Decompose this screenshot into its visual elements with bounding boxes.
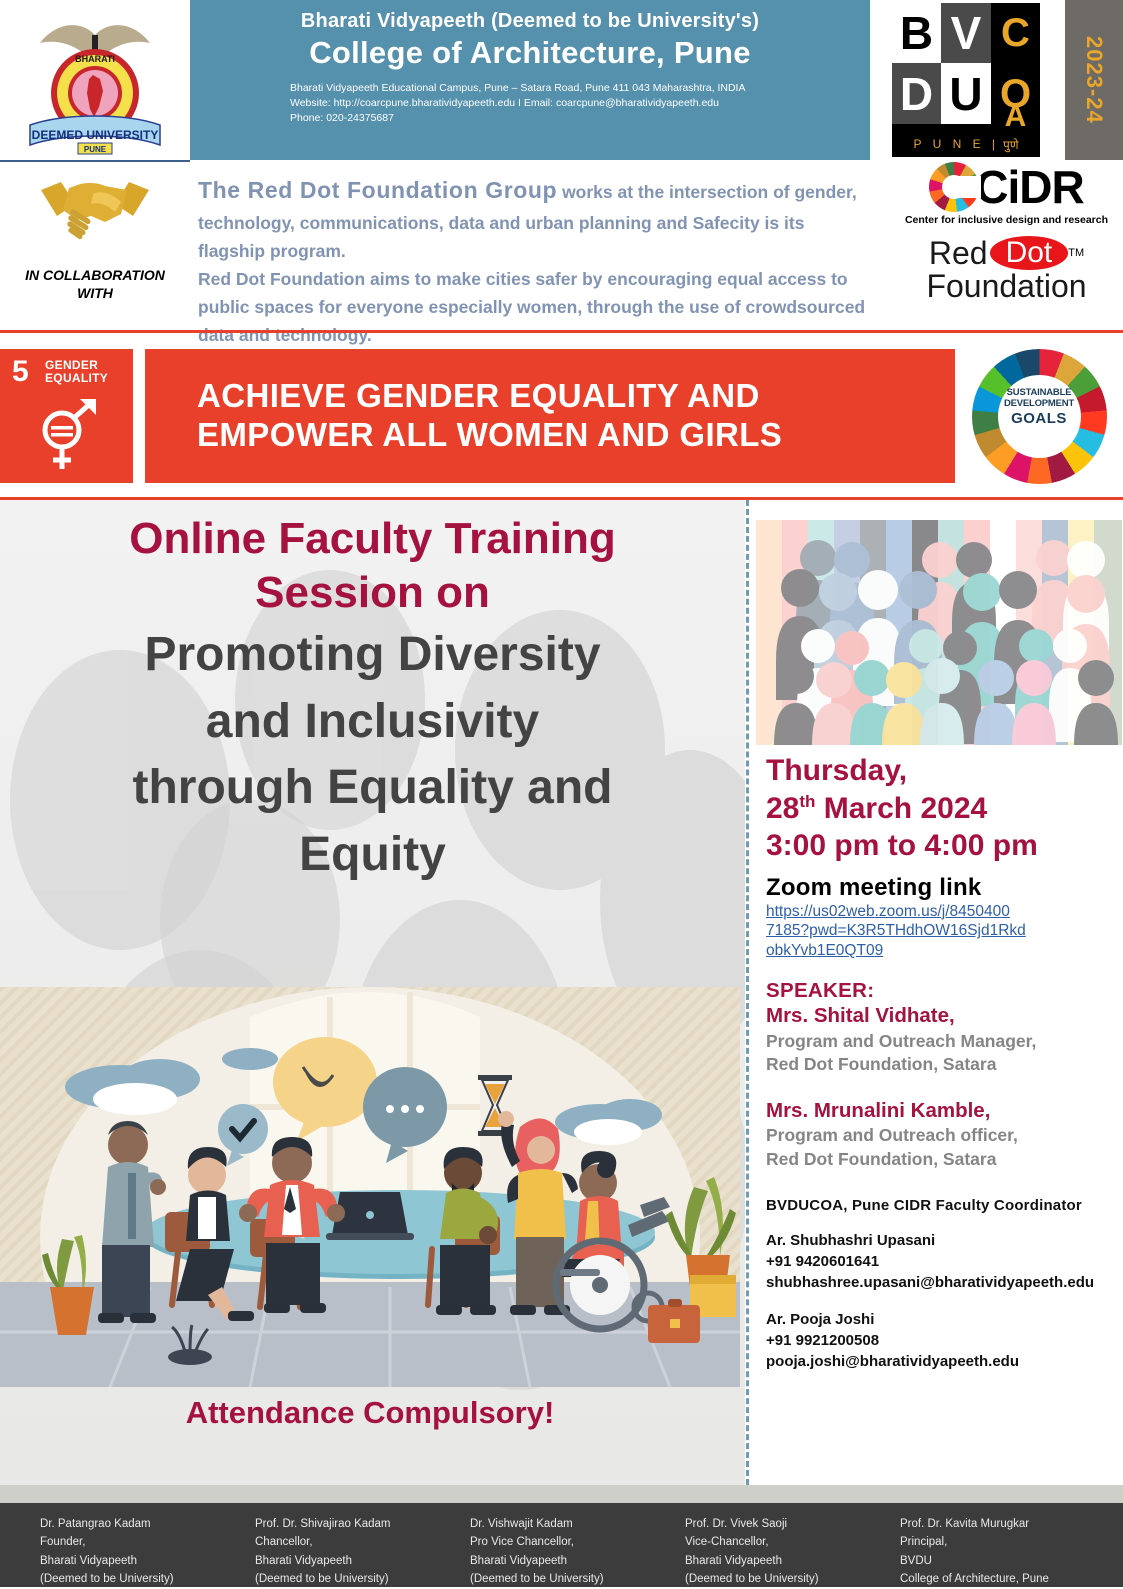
divider-top (0, 330, 1123, 333)
coordinator-2-phone[interactable]: +91 9921200508 (766, 1330, 1118, 1351)
event-date-suffix: th (799, 792, 815, 811)
zoom-url-line2[interactable]: 7185?pwd=K3R5THdhOW16Sjd1Rkd (766, 922, 1026, 939)
event-date-month-year: March 2024 (815, 792, 987, 825)
coordinator-2: Ar. Pooja Joshi +91 9921200508 pooja.jos… (766, 1309, 1118, 1372)
trademark-symbol: TM (1068, 248, 1084, 259)
speaker-1-role-line1: Program and Outreach Manager, (766, 1030, 1118, 1053)
red-dot-paragraph-2: Red Dot Foundation aims to make cities s… (198, 265, 868, 349)
attendance-notice: Attendance Compulsory! (0, 1395, 740, 1431)
footer-person-5-name: Prof. Dr. Kavita Murugkar (900, 1515, 1097, 1533)
bvdu-letter-v: V (941, 3, 991, 63)
speaker-2: Mrs. Mrunalini Kamble, Program and Outre… (766, 1098, 1118, 1171)
coordinator-1: Ar. Shubhashri Upasani +91 9420601641 sh… (766, 1230, 1118, 1293)
speaker-1-name: Mrs. Shital Vidhate, (766, 1003, 1118, 1030)
page-header: BHARATI ★ ★ DEEMED UNIVERSITY PUNE Bhara… (0, 0, 1123, 160)
bvdu-pune-label: P U N E | पुणे (892, 133, 1040, 155)
bvdu-coa-logo-cell: B V C D U O A P U N E | पुणे 2023-24 (870, 0, 1123, 160)
reddot-word-red: Red (929, 237, 988, 269)
handshake-icon (35, 170, 155, 245)
cidr-wordmark: CiDR (975, 164, 1083, 210)
coordinator-2-name: Ar. Pooja Joshi (766, 1309, 1118, 1330)
poster-root: BHARATI ★ ★ DEEMED UNIVERSITY PUNE Bhara… (0, 0, 1123, 1587)
sdg-wheel-line3: GOALS (998, 410, 1081, 429)
academic-year-strip: 2023-24 (1065, 0, 1123, 160)
campus-address: Bharati Vidyapeeth Educational Campus, P… (290, 81, 856, 96)
footer-person-1-org1: Bharati Vidyapeeth (40, 1552, 237, 1570)
sdg-goal-label-line2: EQUALITY (45, 372, 108, 385)
sdg-goal-number: 5 (12, 357, 29, 387)
phone-number: Phone: 020-24375687 (290, 111, 856, 126)
event-date-number: 28 (766, 792, 799, 825)
header-contact-block: Bharati Vidyapeeth Educational Campus, P… (204, 81, 856, 127)
footer-person-2-org1: Bharati Vidyapeeth (255, 1552, 452, 1570)
zoom-url-line3[interactable]: obkYvb1E0QT09 (766, 942, 883, 959)
footer-person-4-org1: Bharati Vidyapeeth (685, 1552, 882, 1570)
sdg-goal-label: GENDER EQUALITY (45, 359, 108, 385)
coordinator-1-email[interactable]: shubhashree.upasani@bharatividyapeeth.ed… (766, 1272, 1118, 1293)
footer-person-1-role: Founder, (40, 1533, 237, 1551)
cidr-logo: CiDR Center for inclusive design and res… (905, 162, 1108, 226)
footer-person-2-role: Chancellor, (255, 1533, 452, 1551)
sdg-goal-5-tile: 5 GENDER EQUALITY (0, 349, 133, 483)
footer-person-3: Dr. Vishwajit Kadam Pro Vice Chancellor,… (470, 1515, 667, 1587)
footer-person-5-org2: College of Architecture, Pune (900, 1570, 1097, 1588)
footer-person-4-org2: (Deemed to be University) (685, 1570, 882, 1588)
sdg-statement-line2: EMPOWER ALL WOMEN AND GIRLS (197, 416, 955, 455)
partner-logos: CiDR Center for inclusive design and res… (890, 160, 1123, 328)
collaboration-label: IN COLLABORATION WITH (25, 267, 165, 302)
event-details: Thursday, 28th March 2024 3:00 pm to 4:0… (766, 752, 1118, 1372)
bvdu-pune-text: P U N E | (913, 137, 999, 151)
footer-person-3-role: Pro Vice Chancellor, (470, 1533, 667, 1551)
college-name: College of Architecture, Pune (204, 35, 856, 71)
footer-person-4: Prof. Dr. Vivek Saoji Vice-Chancellor, B… (685, 1515, 882, 1587)
speaker-2-name: Mrs. Mrunalini Kamble, (766, 1098, 1118, 1125)
page-footer: Dr. Patangrao Kadam Founder, Bharati Vid… (0, 1503, 1123, 1587)
coordinator-heading: BVDUCOA, Pune CIDR Faculty Coordinator (766, 1197, 1118, 1214)
collaboration-label-line1: IN COLLABORATION (25, 267, 165, 285)
footer-person-4-name: Prof. Dr. Vivek Saoji (685, 1515, 882, 1533)
speaker-spacer (766, 1076, 1118, 1098)
sdg-banner-section: 5 GENDER EQUALITY ACHIEVE GENDER EQUALIT… (0, 341, 1123, 491)
academic-year: 2023-24 (1081, 36, 1107, 124)
sdg-wheel-line1: SUSTAINABLE (998, 387, 1081, 399)
collaboration-cell: IN COLLABORATION WITH (0, 160, 190, 328)
bvdu-letter-b: B (892, 3, 941, 63)
footer-person-2-name: Prof. Dr. Shivajirao Kadam (255, 1515, 452, 1533)
sdg-wheel-line2: DEVELOPMENT (998, 398, 1081, 410)
right-column: Thursday, 28th March 2024 3:00 pm to 4:0… (752, 500, 1123, 1485)
footer-person-2-org2: (Deemed to be University) (255, 1570, 452, 1588)
header-title-band: Bharati Vidyapeeth (Deemed to be Univers… (190, 0, 870, 160)
sdg-wheel-text: SUSTAINABLE DEVELOPMENT GOALS (998, 387, 1081, 430)
footer-spacer (0, 1485, 1123, 1503)
red-dot-foundation-section: IN COLLABORATION WITH The Red Dot Founda… (0, 160, 1123, 328)
sdg-color-wheel-icon: SUSTAINABLE DEVELOPMENT GOALS (972, 349, 1107, 484)
bvdu-letter-c: C (991, 3, 1040, 63)
footer-person-4-role: Vice-Chancellor, (685, 1533, 882, 1551)
coordinator-1-name: Ar. Shubhashri Upasani (766, 1230, 1118, 1251)
footer-person-5-role: Principal, (900, 1533, 1097, 1551)
footer-person-5: Prof. Dr. Kavita Murugkar Principal, BVD… (900, 1515, 1097, 1587)
footer-person-3-org1: Bharati Vidyapeeth (470, 1552, 667, 1570)
event-day: Thursday, (766, 752, 1118, 790)
coordinator-2-email[interactable]: pooja.joshi@bharatividyapeeth.edu (766, 1351, 1118, 1372)
meeting-scene-svg (0, 987, 740, 1387)
footer-person-3-org2: (Deemed to be University) (470, 1570, 667, 1588)
bvdu-letter-u: U (941, 63, 991, 124)
svg-text:PUNE: PUNE (84, 145, 107, 154)
red-dot-description: The Red Dot Foundation Group works at th… (190, 160, 890, 328)
bvdu-letter-a: A (991, 98, 1040, 136)
reddot-word-foundation: Foundation (926, 270, 1086, 304)
bharati-vidyapeeth-emblem-icon: BHARATI ★ ★ DEEMED UNIVERSITY PUNE (20, 5, 170, 155)
red-dot-paragraph-1: The Red Dot Foundation Group works at th… (198, 172, 868, 265)
reddot-word-dot: Dot (990, 236, 1069, 270)
speaker-2-role-line2: Red Dot Foundation, Satara (766, 1148, 1118, 1171)
session-title-block: Online Faculty Training Session on Promo… (20, 512, 725, 885)
university-name: Bharati Vidyapeeth (Deemed to be Univers… (204, 10, 856, 33)
event-date: 28th March 2024 (766, 790, 1118, 828)
speaker-heading: SPEAKER: (766, 979, 1118, 1003)
red-dot-foundation-logo: Red Dot TM Foundation (926, 236, 1086, 304)
zoom-link-heading: Zoom meeting link (766, 874, 1118, 902)
collaboration-label-line2: WITH (25, 285, 165, 303)
session-topic-line3: through Equality and (20, 758, 725, 818)
gender-equality-symbol-icon (34, 397, 104, 473)
session-title-line2: Session on (20, 566, 725, 620)
main-content: Online Faculty Training Session on Promo… (0, 500, 1123, 1485)
bharati-vidyapeeth-emblem-cell: BHARATI ★ ★ DEEMED UNIVERSITY PUNE (0, 0, 190, 160)
inclusive-meeting-illustration (0, 987, 740, 1387)
session-topic-line1: Promoting Diversity (20, 625, 725, 685)
diverse-people-illustration (756, 520, 1122, 745)
coordinator-1-phone[interactable]: +91 9420601641 (766, 1251, 1118, 1272)
red-dot-group-name: The Red Dot Foundation Group (198, 177, 557, 203)
session-topic-line2: and Inclusivity (20, 692, 725, 752)
footer-person-1-org2: (Deemed to be University) (40, 1570, 237, 1588)
vertical-dashed-divider (746, 500, 749, 1485)
footer-person-3-name: Dr. Vishwajit Kadam (470, 1515, 667, 1533)
sdg-wheel-cell: SUSTAINABLE DEVELOPMENT GOALS (955, 341, 1123, 491)
svg-text:BHARATI: BHARATI (75, 54, 115, 64)
sdg-statement-line1: ACHIEVE GENDER EQUALITY AND (197, 377, 955, 416)
speaker-1: Mrs. Shital Vidhate, Program and Outreac… (766, 1003, 1118, 1076)
cidr-tagline: Center for inclusive design and research (905, 214, 1108, 226)
footer-person-5-org1: BVDU (900, 1552, 1097, 1570)
session-topic-line4: Equity (20, 825, 725, 885)
session-title-line1: Online Faculty Training (20, 512, 725, 566)
bvdu-coa-logo: B V C D U O A P U N E | पुणे (870, 0, 1065, 160)
left-column: Online Faculty Training Session on Promo… (0, 500, 745, 1485)
zoom-meeting-link[interactable]: https://us02web.zoom.us/j/8450400 7185?p… (766, 902, 1118, 961)
sdg-goal-statement: ACHIEVE GENDER EQUALITY AND EMPOWER ALL … (145, 349, 955, 483)
speaker-1-role-line2: Red Dot Foundation, Satara (766, 1053, 1118, 1076)
footer-person-1-name: Dr. Patangrao Kadam (40, 1515, 237, 1533)
cidr-color-wheel-icon (929, 162, 979, 212)
svg-text:DEEMED UNIVERSITY: DEEMED UNIVERSITY (32, 128, 159, 142)
speaker-2-role-line1: Program and Outreach officer, (766, 1124, 1118, 1147)
zoom-url-line1[interactable]: https://us02web.zoom.us/j/8450400 (766, 903, 1010, 920)
website-email: Website: http://coarcpune.bharatividyape… (290, 96, 856, 111)
event-time: 3:00 pm to 4:00 pm (766, 827, 1118, 865)
footer-person-1: Dr. Patangrao Kadam Founder, Bharati Vid… (40, 1515, 237, 1587)
bvdu-letter-d: D (892, 63, 941, 124)
footer-person-2: Prof. Dr. Shivajirao Kadam Chancellor, B… (255, 1515, 452, 1587)
bvdu-pune-marathi: पुणे (1003, 136, 1019, 153)
